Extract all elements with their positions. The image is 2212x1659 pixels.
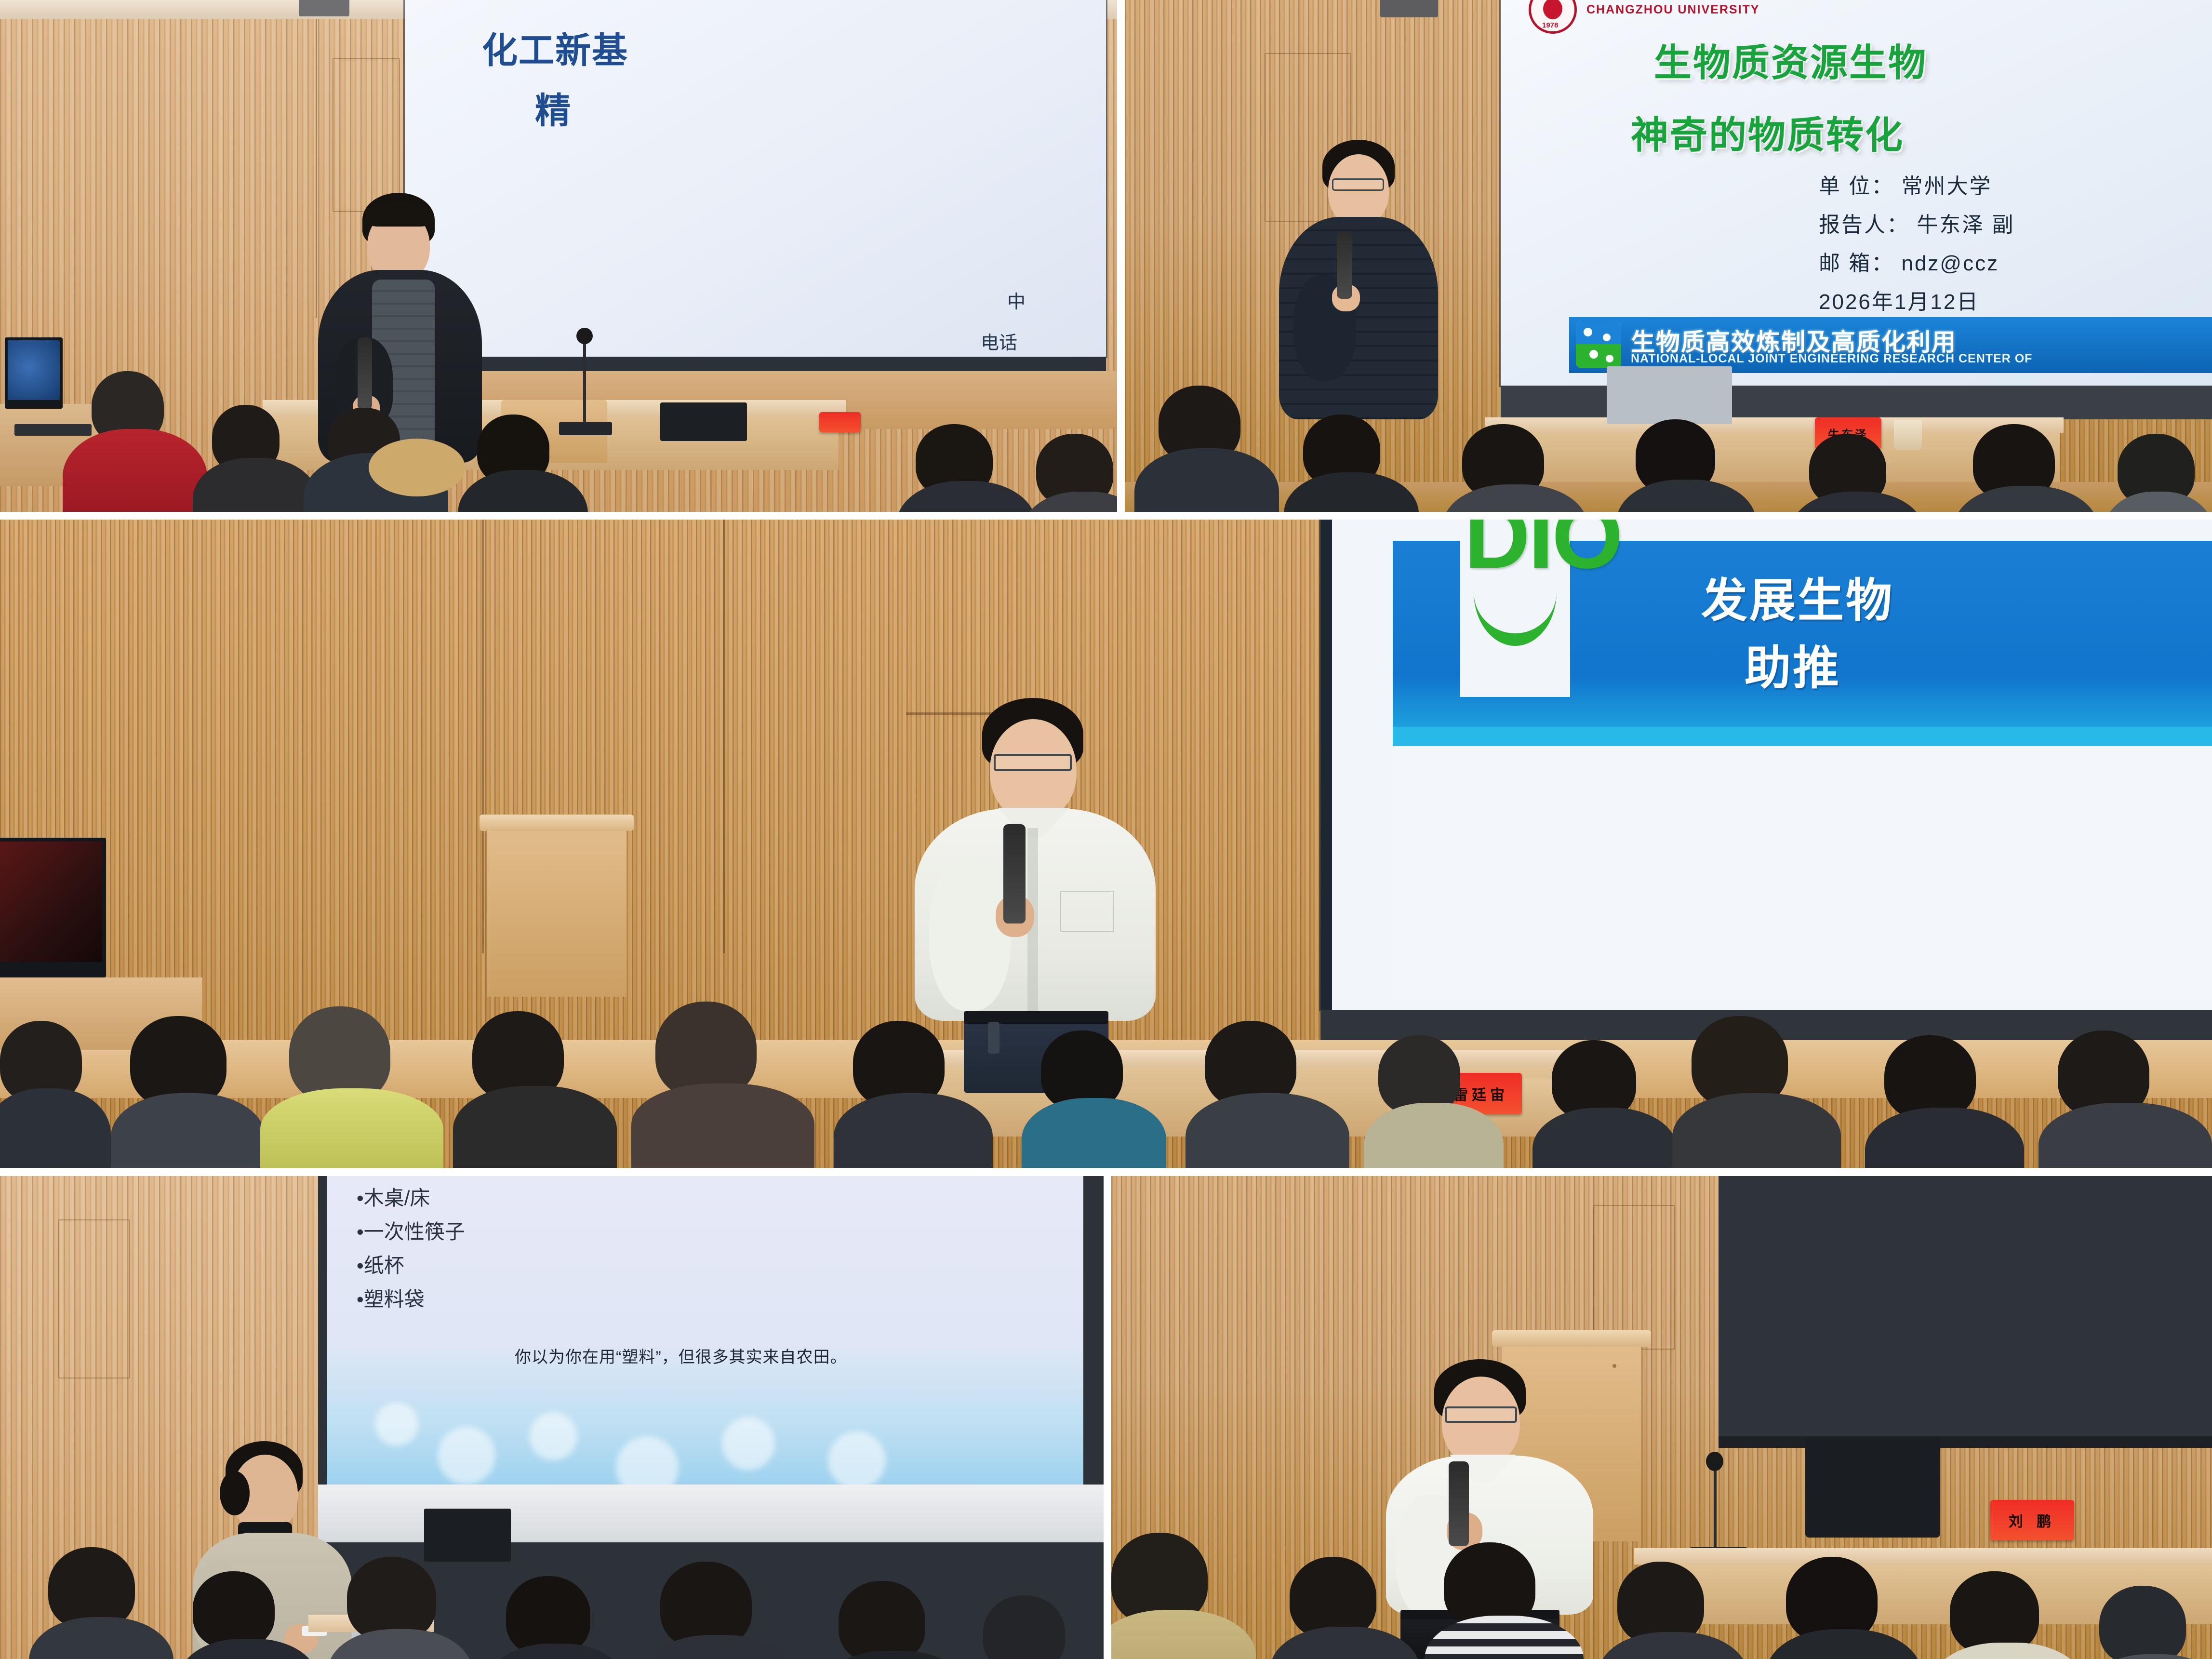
photo-collage: 化工新基 精 中 电话 [0, 0, 2212, 1659]
slide-meta-row: 报告人： 牛东泽 副 [1819, 207, 2014, 238]
desk-microphone-head [576, 328, 593, 344]
monitor-screen [0, 842, 102, 962]
desk-equipment-case [660, 402, 747, 441]
bullet-text: 塑料袋 [364, 1288, 425, 1311]
ceiling-light [1380, 0, 1438, 17]
slide-bullet: •一次性筷子 [357, 1216, 465, 1245]
slide-title-line2: 精 [535, 82, 572, 134]
meta-label: 报告人： [1819, 213, 1909, 237]
logo-node [1603, 334, 1611, 341]
meta-value: 常州大学 [1901, 174, 1992, 198]
research-center-logo [1576, 321, 1621, 368]
audience-head [1950, 1571, 2039, 1654]
bullet-text: 纸杯 [364, 1254, 404, 1277]
audience-body [111, 1093, 265, 1168]
audience-body [453, 1086, 617, 1168]
wall-door-outline [58, 1219, 130, 1378]
speaker-figure [1265, 140, 1467, 429]
logo-node [1589, 350, 1598, 359]
slide-title-line2: 神奇的物质转化 [1631, 105, 1904, 159]
desk-name-placard [819, 412, 861, 432]
slide-meta-row: 单 位： 常州大学 [1819, 169, 1992, 200]
speaker-glasses [1332, 178, 1384, 191]
bullet-marker: • [357, 1254, 364, 1277]
slide-footer-line2: 电话 [981, 328, 1017, 354]
photo-panel-bottom-right[interactable]: 刘 鹏 [1111, 1176, 2212, 1659]
research-center-banner: 生物质高效炼制及高质化利用 NATIONAL-LOCAL JOINT ENGIN… [1569, 317, 2212, 373]
handheld-microphone [1449, 1461, 1469, 1546]
lectern [487, 823, 626, 997]
projection-screen-dark [1719, 1176, 2212, 1446]
wall-seam [723, 520, 725, 953]
screen-left-frame [1320, 520, 1332, 1010]
placard-text: 刘 鹏 [2009, 1510, 2056, 1531]
audience-body [63, 429, 207, 512]
slide-title-line1: 发展生物 [1701, 563, 1894, 630]
desk-microphone-stand [583, 337, 586, 424]
front-desk-top [1485, 417, 2064, 433]
speaker-figure [299, 193, 501, 463]
bullet-text: 木桌/床 [364, 1187, 430, 1209]
audience-head [193, 1571, 275, 1648]
dio-wordmark: DIO [1464, 520, 1621, 589]
lectern-top [1492, 1330, 1651, 1347]
lectern-top [480, 815, 634, 831]
laptop [1607, 366, 1732, 424]
screen-lower-shadow [405, 357, 1106, 371]
chair [1805, 1436, 1940, 1538]
photo-panel-top-left[interactable]: 化工新基 精 中 电话 [0, 0, 1117, 512]
university-logo-year: 1978 [1542, 21, 1558, 29]
slide-bullet: •木桌/床 [357, 1182, 430, 1211]
slide-title-line1: 化工新基 [482, 22, 628, 73]
logo-leaf-shape [1576, 344, 1621, 368]
speaker-glasses [994, 754, 1072, 771]
slide-title-line2: 助推 [1745, 630, 1841, 697]
speaker-belt [964, 1011, 1108, 1024]
speaker-pocket [1060, 891, 1114, 932]
audience-head [2099, 1586, 2186, 1659]
monitor-screen [8, 340, 60, 400]
keyboard [14, 424, 92, 436]
wall-seam [482, 520, 484, 953]
handheld-microphone [358, 337, 372, 410]
desk-microphone-base [559, 422, 612, 435]
slide-caption: 你以为你在用“塑料”，但很多其实来自农田。 [515, 1344, 847, 1367]
slide-bokeh [375, 1403, 418, 1446]
ceiling-vent [299, 0, 349, 16]
logo-node [1584, 328, 1592, 336]
slide-bokeh [722, 1417, 775, 1470]
slide-meta-row: 邮 箱： ndz@ccz [1819, 246, 1999, 277]
slide-bokeh [828, 1432, 886, 1489]
photo-panel-top-right[interactable]: 1978 CHANGZHOU UNIVERSITY 生物质资源生物 神奇的物质转… [1125, 0, 2212, 512]
slide-bokeh [438, 1427, 495, 1485]
screen-bezel [1719, 1436, 2212, 1448]
slide-title-line1: 生物质资源生物 [1654, 33, 1927, 87]
speaker-bun [220, 1471, 250, 1515]
meta-value: ndz@ccz [1901, 252, 1999, 275]
audience-head [347, 1557, 436, 1641]
meta-label: 邮 箱： [1819, 252, 1894, 275]
audience-head [1884, 1035, 1976, 1120]
audience-body [1186, 1093, 1349, 1168]
projection-screen: 化工新基 精 中 电话 [405, 0, 1106, 357]
banner-english-text: NATIONAL-LOCAL JOINT ENGINEERING RESEARC… [1631, 352, 2032, 366]
slide-cyan-strip [1393, 727, 2212, 746]
computer-monitor [0, 838, 106, 977]
placard-text [840, 422, 840, 423]
desk-microphone-head [1706, 1452, 1723, 1471]
bullet-marker: • [357, 1288, 364, 1311]
university-logo-text: CHANGZHOU UNIVERSITY [1586, 3, 1759, 17]
photo-panel-middle[interactable]: DIO 发展生物 助推 雷廷宙 [0, 520, 2212, 1168]
meta-value: 牛东泽 副 [1917, 213, 2014, 237]
audience-body [1672, 1093, 1841, 1168]
bullet-text: 一次性筷子 [364, 1220, 465, 1243]
slide-bullet: •纸杯 [357, 1249, 404, 1279]
speaker-hair-front [365, 201, 433, 227]
audience-body [260, 1088, 443, 1168]
speaker-glasses [1445, 1406, 1517, 1423]
slide-bullet: •塑料袋 [357, 1283, 425, 1312]
audience-head [839, 1581, 925, 1659]
bullet-marker: • [357, 1187, 364, 1209]
audience-body [631, 1084, 814, 1168]
speaker-arm [929, 857, 1011, 1011]
projection-screen: •木桌/床 •一次性筷子 •纸杯 •塑料袋 你以为你在用“塑料”，但很多其实来自… [327, 1176, 1083, 1485]
audience-body [1022, 1098, 1166, 1168]
projection-screen: DIO 发展生物 助推 [1320, 520, 2212, 1010]
computer-monitor [5, 337, 63, 409]
bullet-marker: • [357, 1220, 364, 1243]
handheld-microphone [1337, 231, 1352, 299]
handheld-microphone [1003, 824, 1026, 923]
meta-label: 单 位： [1819, 174, 1894, 198]
placard-text: 雷廷宙 [1453, 1083, 1508, 1104]
lectern-screws [1612, 1364, 1616, 1368]
wall-door-outline [1593, 1205, 1675, 1350]
slide-bokeh [529, 1412, 577, 1460]
laptop [424, 1509, 511, 1562]
slide-content-area [1393, 746, 2212, 1002]
slide-footer-line1: 中 [1007, 287, 1026, 313]
slide-date: 2026年1月12日 [1819, 284, 1979, 315]
front-desk-top [1634, 1548, 2212, 1565]
logo-molecule-shape [1576, 321, 1621, 345]
speaker-keys [988, 1022, 999, 1054]
fur-hood [369, 439, 465, 496]
projection-screen: 1978 CHANGZHOU UNIVERSITY 生物质资源生物 神奇的物质转… [1501, 0, 2212, 386]
desk-microphone-stand [1714, 1465, 1717, 1552]
speaker-figure [901, 698, 1171, 1093]
logo-node [1606, 355, 1613, 362]
photo-panel-bottom-left[interactable]: •木桌/床 •一次性筷子 •纸杯 •塑料袋 你以为你在用“塑料”，但很多其实来自… [0, 1176, 1104, 1659]
desk-name-placard: 刘 鹏 [1990, 1500, 2074, 1540]
audience-body [834, 1093, 993, 1168]
paper-cup [1894, 420, 1922, 450]
wall-door-outline [333, 58, 400, 212]
